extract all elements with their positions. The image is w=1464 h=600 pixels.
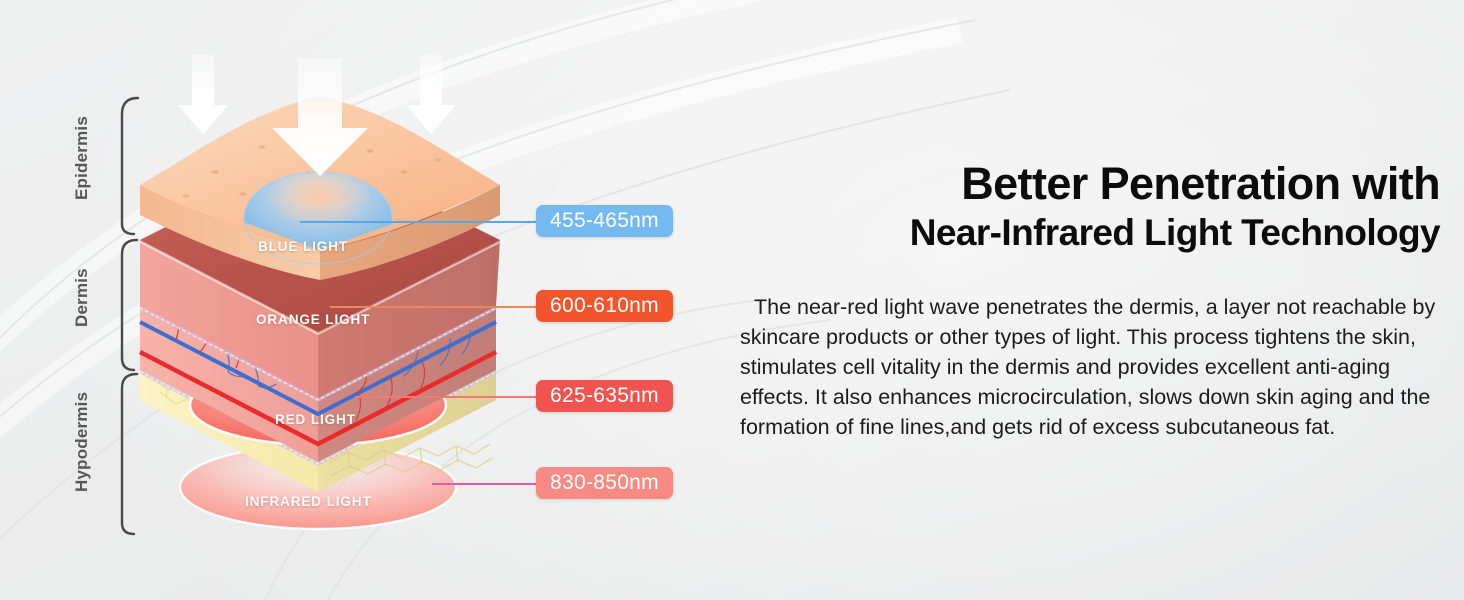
headline-line-2: Near-Infrared Light Technology xyxy=(740,210,1440,256)
copy-block: Better Penetration with Near-Infrared Li… xyxy=(740,0,1450,600)
connector-line-red xyxy=(355,396,538,398)
light-caption-red: RED LIGHT xyxy=(275,412,356,427)
arrow-right-icon xyxy=(406,55,456,134)
body-paragraph: The near-red light wave penetrates the d… xyxy=(740,292,1444,442)
skin-diagram: Epidermis Dermis Hypodermis xyxy=(0,0,730,600)
bracket-group xyxy=(122,98,138,534)
headline-line-1: Better Penetration with xyxy=(961,158,1440,209)
connector-line-orange xyxy=(330,306,538,308)
wavelength-badge-orange: 600-610nm xyxy=(536,290,673,322)
arrow-left-icon xyxy=(178,55,228,134)
light-caption-blue: BLUE LIGHT xyxy=(258,239,348,254)
wavelength-badge-red: 625-635nm xyxy=(536,380,673,412)
wavelength-badge-blue: 455-465nm xyxy=(536,205,673,237)
banner-root: Epidermis Dermis Hypodermis xyxy=(0,0,1464,600)
wavelength-badge-infrared: 830-850nm xyxy=(536,467,673,499)
light-caption-orange: ORANGE LIGHT xyxy=(256,312,370,327)
connector-line-infrared xyxy=(432,483,538,485)
headline: Better Penetration with Near-Infrared Li… xyxy=(740,158,1440,256)
connector-line-blue xyxy=(300,221,538,223)
light-caption-infrared: INFRARED LIGHT xyxy=(245,494,372,509)
